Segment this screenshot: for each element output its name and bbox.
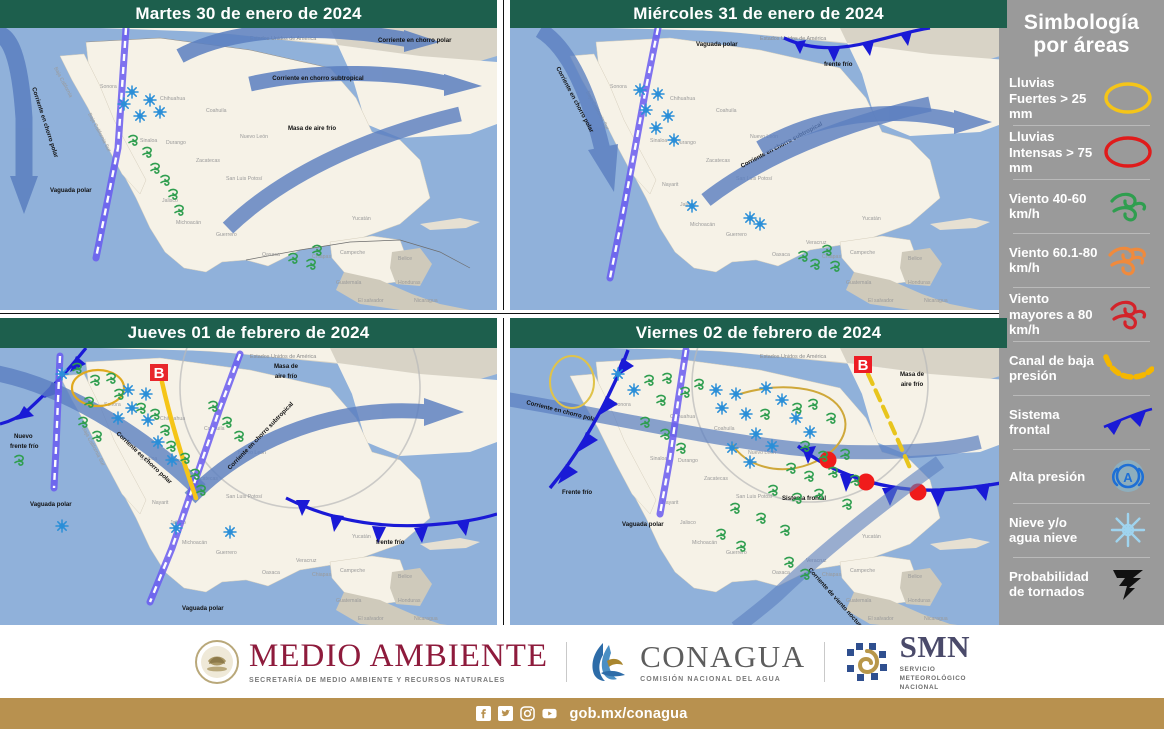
bottom-bar: gob.mx/conagua [0, 698, 1164, 729]
geo-label: Durango [676, 140, 696, 146]
wind-red-icon [1102, 291, 1154, 337]
annotation-label: Corriente en chorro polar [378, 37, 452, 44]
annotation-label: Vaguada polar [622, 521, 664, 528]
wind-green-icon [1102, 183, 1154, 229]
geo-label: Michoacán [182, 540, 207, 546]
annotation-label: Nuevo [14, 433, 33, 440]
annotation-label: Frente frío [562, 489, 592, 496]
annotation-label: Masa de aire frío [288, 125, 336, 132]
geo-label: Nicaragua [414, 298, 438, 304]
semarnat-subtitle: SECRETARÍA DE MEDIO AMBIENTE Y RECURSOS … [249, 677, 548, 684]
geo-label: Yucatán [352, 534, 371, 540]
geo-label: Campeche [850, 250, 875, 256]
geo-label: Honduras [908, 598, 931, 604]
geo-label: Sonora [610, 84, 627, 90]
geo-label: San Luis Potosí [226, 176, 263, 182]
snowflake-icon [1102, 507, 1154, 553]
smn-title: SMN [900, 631, 970, 662]
geo-label: Veracruz [296, 558, 317, 564]
map-miercoles[interactable]: Estados Unidos de América Sonora Chihuah… [510, 28, 1007, 310]
geo-label: Chihuahua [160, 96, 185, 102]
geo-label: Nicaragua [924, 298, 948, 304]
ellipse-red-icon [1102, 129, 1154, 175]
panel-title-jueves: Jueves 01 de febrero de 2024 [0, 318, 497, 348]
annotation-label: frente frío [10, 443, 39, 450]
youtube-icon[interactable] [542, 706, 557, 721]
panel-title-miercoles: Miércoles 31 de enero de 2024 [510, 0, 1007, 28]
geo-label: Estados Unidos de América [760, 354, 826, 360]
geo-label: Coahuila [716, 108, 737, 114]
annotation-label: aire frío [901, 381, 924, 388]
legend-title-line2: por áreas [1005, 35, 1158, 58]
annotation-label: Vaguada polar [30, 501, 72, 508]
geo-label: Guatemala [846, 598, 871, 604]
geo-label: Chiapas [822, 572, 841, 578]
annotation-label: frente frío [376, 539, 405, 546]
legend-item-lluvias-fuertes[interactable]: Lluvias Fuertes > 25 mm [1009, 71, 1154, 125]
forecast-panel-martes[interactable]: Martes 30 de enero de 2024 [0, 0, 497, 310]
geo-label: Zacatecas [706, 158, 730, 164]
legend-item-alta-presion[interactable]: Alta presión A [1009, 449, 1154, 503]
instagram-icon[interactable] [520, 706, 535, 721]
geo-label: Honduras [398, 280, 421, 286]
trough-yellow-icon [1102, 345, 1154, 391]
geo-label: Honduras [908, 280, 931, 286]
geo-label: Campeche [340, 250, 365, 256]
tornado-icon [1102, 561, 1154, 607]
geo-label: Yucatán [352, 216, 371, 222]
twitter-icon[interactable] [498, 706, 513, 721]
footer-logos: MEDIO AMBIENTE SECRETARÍA DE MEDIO AMBIE… [0, 625, 1164, 698]
geo-label: Nuevo León [240, 134, 268, 140]
weather-forecast-page: Martes 30 de enero de 2024 [0, 0, 1164, 729]
annotation-label: aire frío [275, 373, 298, 380]
geo-label: Chiapas [312, 254, 331, 260]
geo-label: Oaxaca [772, 252, 790, 258]
low-pressure-letter: B [154, 365, 165, 382]
panel-divider-horizontal [0, 310, 999, 318]
legend-title: Simbología por áreas [999, 8, 1164, 57]
annotation-label: frente frío [824, 61, 853, 68]
forecast-panel-viernes[interactable]: Viernes 02 de febrero de 2024 Estados Un… [510, 318, 1007, 628]
legend-item-label: Probabilidad de tornados [1009, 569, 1098, 600]
legend-item-viento-60-80[interactable]: Viento 60.1-80 km/h [1009, 233, 1154, 287]
geo-label: Sonora [100, 84, 117, 90]
geo-label: Sonora [614, 402, 631, 408]
geo-label: Yucatán [862, 216, 881, 222]
legend-item-label: Lluvias Fuertes > 25 mm [1009, 75, 1098, 122]
forecast-panel-miercoles[interactable]: Miércoles 31 de enero de 2024 Estados Un… [510, 0, 1007, 310]
geo-label: Michoacán [690, 222, 715, 228]
conagua-eagle-icon [585, 639, 631, 685]
geo-label: Nicaragua [924, 616, 948, 622]
geo-label: Sinaloa [140, 138, 157, 144]
mexico-seal-icon [194, 639, 240, 685]
geo-label: Campeche [340, 568, 365, 574]
legend-item-lluvias-intensas[interactable]: Lluvias Intensas > 75 mm [1009, 125, 1154, 179]
legend-item-label: Viento 40-60 km/h [1009, 191, 1098, 222]
annotation-label: Vaguada polar [50, 187, 92, 194]
annotation-label: Vaguada polar [696, 41, 738, 48]
geo-label: Chiapas [312, 572, 331, 578]
annotation-label: Corriente en chorro subtropical [272, 75, 364, 82]
high-pressure-icon: A [1102, 453, 1154, 499]
smn-subtitle: SERVICIO METEOROLÓGICO NACIONAL [900, 665, 970, 692]
geo-label: Guatemala [336, 280, 361, 286]
legend-item-sistema-frontal[interactable]: Sistema frontal [1009, 395, 1154, 449]
wind-orange-icon [1102, 237, 1154, 283]
geo-label: Guerrero [726, 232, 747, 238]
geo-label: Durango [678, 458, 698, 464]
ellipse-yellow-icon [1102, 75, 1154, 121]
warm-front-marker [858, 474, 875, 491]
geo-label: Michoacán [176, 220, 201, 226]
legend-sidebar: Simbología por áreas Lluvias Fuertes > 2… [999, 0, 1164, 625]
geo-label: Campeche [850, 568, 875, 574]
geo-label: El salvador [868, 298, 894, 304]
geo-label: Yucatán [862, 534, 881, 540]
legend-title-line1: Simbología [1005, 12, 1158, 35]
geo-label: Durango [166, 140, 186, 146]
geo-label: San Luis Potosí [226, 494, 263, 500]
geo-label: Coahuila [206, 108, 227, 114]
geo-label: Guatemala [336, 598, 361, 604]
forecast-map-grid: Martes 30 de enero de 2024 [0, 0, 999, 625]
map-viernes[interactable]: Estados Unidos de América Sonora Chihuah… [510, 348, 1007, 628]
low-pressure-letter: B [858, 357, 869, 374]
geo-label: Belice [908, 256, 922, 262]
geo-label: El salvador [358, 298, 384, 304]
geo-label: Jalisco [680, 520, 696, 526]
geo-label: Chiapas [822, 254, 841, 260]
panel-title-martes: Martes 30 de enero de 2024 [0, 0, 497, 28]
geo-label: Belice [398, 256, 412, 262]
geo-label: Sinaloa [650, 456, 667, 462]
legend-item-label: Canal de baja presión [1009, 353, 1098, 384]
legend-item-label: Lluvias Intensas > 75 mm [1009, 129, 1098, 176]
forecast-panel-jueves[interactable]: Jueves 01 de febrero de 2024 Estados Uni… [0, 318, 497, 628]
legend-items: Lluvias Fuertes > 25 mm Lluvias Intensas… [999, 71, 1164, 611]
legend-item-label: Sistema frontal [1009, 407, 1098, 438]
geo-label: Honduras [398, 598, 421, 604]
legend-item-label: Nieve y/o agua nieve [1009, 515, 1098, 546]
geo-label: Zacatecas [704, 476, 728, 482]
legend-item-viento-mayores-80[interactable]: Viento mayores a 80 km/h [1009, 287, 1154, 341]
map-jueves[interactable]: Estados Unidos de América Sonora Chihuah… [0, 348, 497, 628]
cold-front-icon [1102, 399, 1154, 445]
geo-label: Nayarit [152, 500, 169, 506]
warm-front-marker [820, 452, 837, 469]
semarnat-title: MEDIO AMBIENTE [249, 640, 548, 673]
logo-smn: SMN SERVICIO METEOROLÓGICO NACIONAL [825, 631, 988, 692]
geo-label: Chihuahua [670, 96, 695, 102]
geo-label: Nayarit [662, 182, 679, 188]
geo-label: Oaxaca [772, 570, 790, 576]
legend-item-canal-baja-presion[interactable]: Canal de baja presión [1009, 341, 1154, 395]
geo-label: Guerrero [216, 550, 237, 556]
geo-label: Zacatecas [196, 158, 220, 164]
geo-label: Guerrero [216, 232, 237, 238]
map-martes[interactable]: Estados Unidos de América Sonora Chihuah… [0, 28, 497, 310]
geo-label: Belice [908, 574, 922, 580]
geo-label: El salvador [868, 616, 894, 622]
legend-item-label: Viento 60.1-80 km/h [1009, 245, 1098, 276]
geo-label: Veracruz [806, 240, 827, 246]
geo-label: El salvador [358, 616, 384, 622]
panel-title-viernes: Viernes 02 de febrero de 2024 [510, 318, 1007, 348]
svg-text:A: A [1123, 470, 1133, 485]
geo-label: San Luis Potosí [736, 494, 773, 500]
geo-label: Sinaloa [650, 138, 667, 144]
facebook-icon[interactable] [476, 706, 491, 721]
geo-label: Oaxaca [262, 570, 280, 576]
legend-item-label: Alta presión [1009, 469, 1085, 485]
conagua-subtitle: COMISIÓN NACIONAL DEL AGUA [640, 676, 806, 683]
geo-label: Guatemala [846, 280, 871, 286]
legend-item-viento-40-60[interactable]: Viento 40-60 km/h [1009, 179, 1154, 233]
logo-conagua: CONAGUA COMISIÓN NACIONAL DEL AGUA [567, 639, 824, 685]
conagua-title: CONAGUA [640, 641, 806, 672]
geo-label: Nicaragua [414, 616, 438, 622]
annotation-label: Masa de [274, 363, 299, 370]
smn-spiral-icon [843, 639, 891, 685]
legend-item-nieve[interactable]: Nieve y/o agua nieve [1009, 503, 1154, 557]
geo-label: Estados Unidos de América [250, 354, 316, 360]
geo-label: Belice [398, 574, 412, 580]
gobmx-url[interactable]: gob.mx/conagua [569, 706, 687, 722]
annotation-label: Masa de [900, 371, 925, 378]
geo-label: Michoacán [692, 540, 717, 546]
geo-label: Oaxaca [262, 252, 280, 258]
legend-item-tornados[interactable]: Probabilidad de tornados [1009, 557, 1154, 611]
legend-item-label: Viento mayores a 80 km/h [1009, 291, 1098, 338]
logo-semarnat: MEDIO AMBIENTE SECRETARÍA DE MEDIO AMBIE… [176, 639, 566, 685]
annotation-label: Vaguada polar [182, 605, 224, 612]
